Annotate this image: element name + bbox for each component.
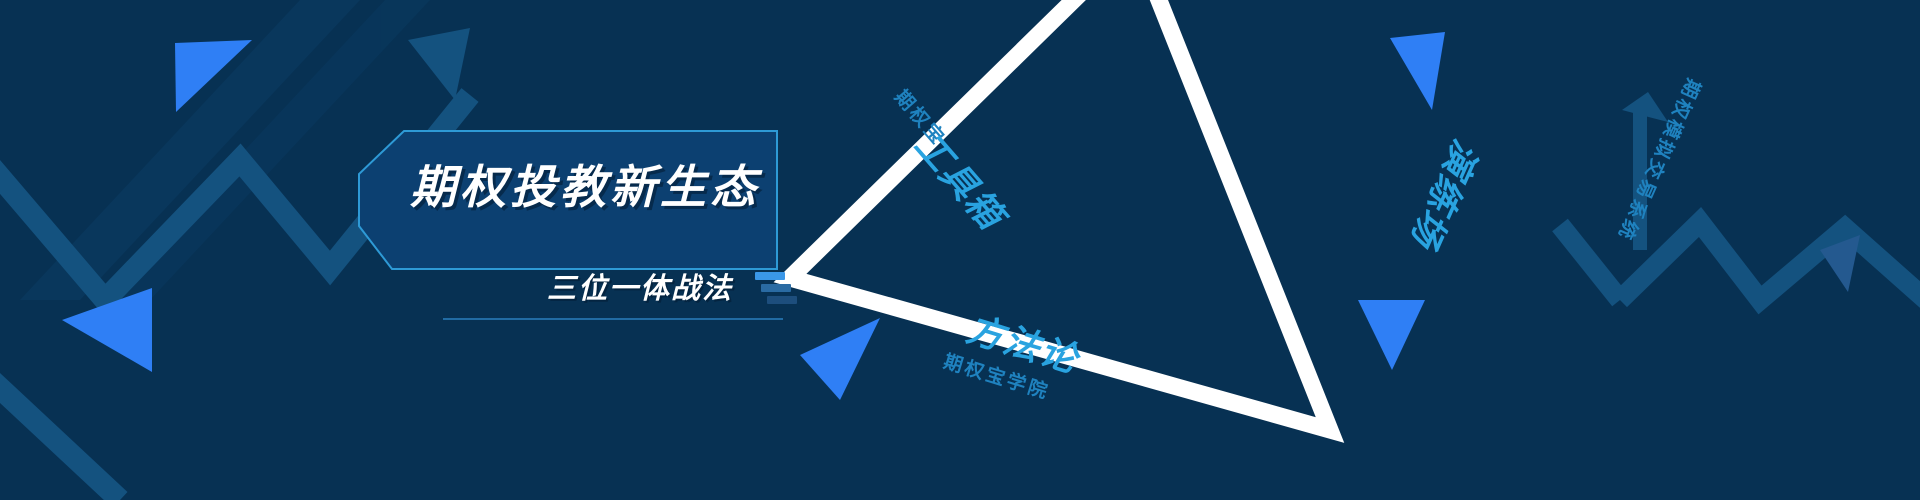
background-decorations [0,0,1920,500]
banner-root: 期权投教新生态 三位一体战法 期权宝 工具箱 期权模拟交易系统 演练场 方法论 … [0,0,1920,500]
bar-3 [767,296,797,304]
subtitle-row: 三位一体战法 [440,258,785,320]
page-title: 期权投教新生态 [410,164,770,210]
three-bars-icon [755,272,785,306]
bar-2 [761,284,791,292]
subtitle-text: 三位一体战法 [547,275,733,304]
subtitle-divider [443,318,783,320]
bar-1 [755,272,785,280]
title-banner: 期权投教新生态 [358,130,778,270]
